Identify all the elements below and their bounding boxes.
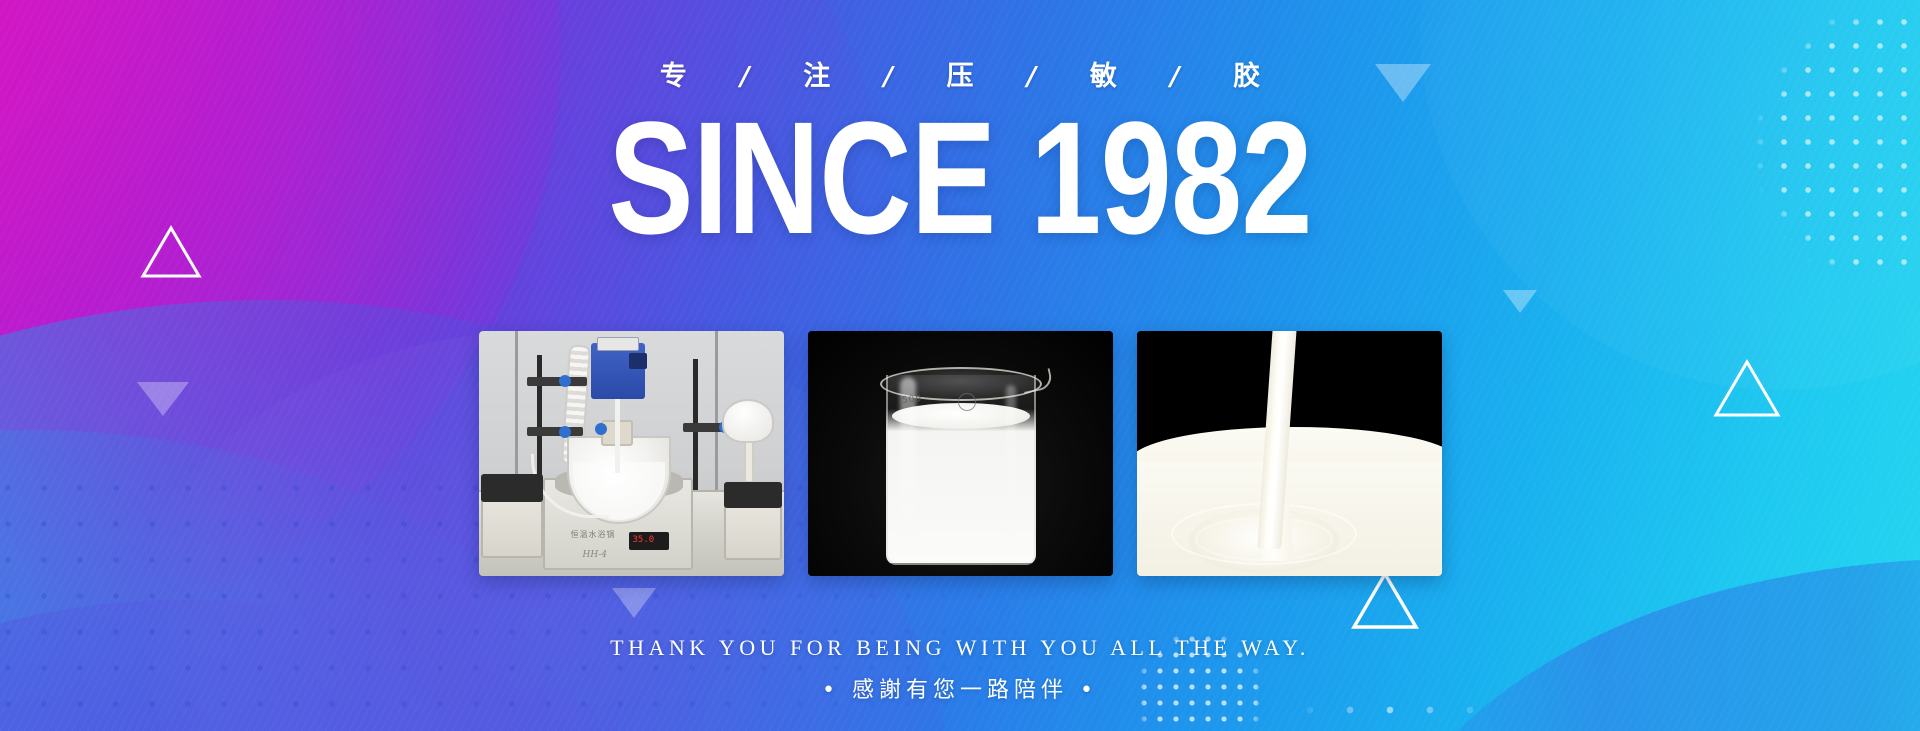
tagline-chinese: • 感謝有您一路陪伴 • [0, 672, 1920, 704]
tagline-english: THANK YOU FOR BEING WITH YOU ALL THE WAY… [0, 635, 1920, 661]
beaker-volume-mark: 500 [901, 394, 922, 406]
headline-since-1982: SINCE 1982 [192, 96, 1728, 259]
promo-banner: 专 / 注 / 压 / 敏 / 胶 SINCE 1982 [0, 0, 1920, 731]
lab-device-label: 恒温水浴锅 [571, 529, 616, 540]
banner-content: 专 / 注 / 压 / 敏 / 胶 SINCE 1982 [0, 0, 1920, 731]
pouring-milk-photo [1137, 331, 1442, 576]
lab-lcd-value: 35.0 [633, 535, 655, 545]
photo-strip: 35.0 恒温水浴锅 HH-4 500 [0, 331, 1920, 576]
lab-reactor-photo: 35.0 恒温水浴锅 HH-4 [479, 331, 784, 576]
beaker-emulsion-photo: 500 [808, 331, 1113, 576]
lab-device-model: HH-4 [583, 550, 607, 560]
